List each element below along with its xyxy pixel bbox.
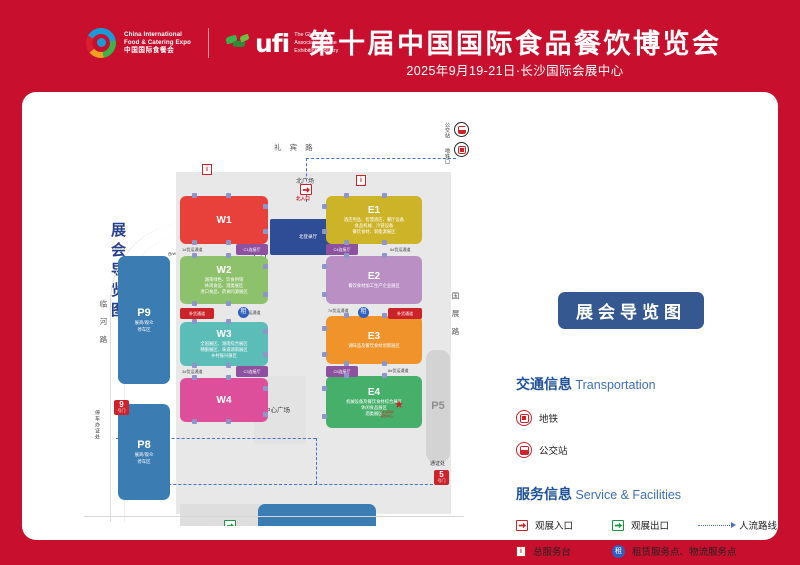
info-desk-marker-1[interactable] bbox=[202, 164, 212, 175]
parking-p9[interactable]: P9 展商/观众 停车区 bbox=[118, 256, 170, 384]
booth-dot bbox=[344, 373, 349, 378]
connector-c3[interactable]: C3连接厅 bbox=[236, 366, 268, 377]
restock-lane-1[interactable]: 补货通道 bbox=[180, 308, 214, 319]
hall-e1-desc: 酒店用品、智慧酒店、餐厅设备 食品机械、冷链设备 餐饮食材、新能源展区 bbox=[341, 217, 407, 236]
hall-w3[interactable]: W3 全国展区、湖南综合展区 精酿展区、味道湖南展区 乡村振兴展区 bbox=[180, 322, 268, 366]
booth-dot bbox=[382, 193, 387, 198]
service-en: Service & Facilities bbox=[572, 488, 681, 502]
hall-e2-desc: 餐饮食材加工生产企业展区 bbox=[345, 283, 403, 289]
booth-dot bbox=[192, 240, 197, 245]
legend-info-desk-label: 总服务台 bbox=[533, 544, 571, 558]
hall-w2[interactable]: W2 湖南绿色、饮食供销 休闲食品、酒类展区 进口食品、药食同源展区 bbox=[180, 256, 268, 304]
booth-dot bbox=[322, 326, 327, 331]
booth-dot bbox=[344, 313, 349, 318]
connector-c5[interactable]: C5连接厅 bbox=[326, 366, 358, 377]
booth-dot bbox=[382, 253, 387, 258]
booth-dot bbox=[226, 301, 231, 306]
booth-dot bbox=[192, 375, 197, 380]
flow-line-top bbox=[306, 158, 456, 159]
booth-dot bbox=[382, 240, 387, 245]
booth-dot bbox=[192, 319, 197, 324]
booth-dot bbox=[263, 386, 268, 391]
cicfe-logo-text: China International Food & Catering Expo… bbox=[124, 31, 191, 54]
parking-p8-desc: 展商/观众 停车区 bbox=[135, 452, 154, 465]
cicfe-logo-icon bbox=[86, 28, 116, 58]
info-panel: 展会导览图 交通信息 Transportation 地铁 公交站 服务信息 Se… bbox=[502, 106, 772, 526]
booth-dot bbox=[263, 264, 268, 269]
booth-dot bbox=[192, 301, 197, 306]
booth-dot bbox=[263, 329, 268, 334]
connector-c1[interactable]: C1连接厅 bbox=[236, 244, 268, 255]
booth-dot bbox=[192, 419, 197, 424]
rental-point-icon-1[interactable]: 租 bbox=[238, 307, 249, 318]
map-title-badge: 展会导览图 bbox=[558, 292, 704, 329]
rental-icon: 租 bbox=[612, 545, 625, 558]
hall-w3-id: W3 bbox=[217, 329, 232, 340]
parking-p8-id: P8 bbox=[137, 439, 150, 451]
hall-e1[interactable]: E1 酒店用品、智慧酒店、餐厅设备 食品机械、冷链设备 餐饮食材、新能源展区 bbox=[326, 196, 422, 244]
rental-point-icon-2[interactable]: 租 bbox=[358, 307, 369, 318]
booth-dot bbox=[263, 292, 268, 297]
parking-south-plaza[interactable]: 南广场 展商/观众 停车区 bbox=[258, 504, 376, 526]
page-header: China International Food & Catering Expo… bbox=[0, 0, 800, 90]
legend-bus-label: 公交站 bbox=[539, 443, 568, 457]
hall-e2[interactable]: E2 餐饮食材加工生产企业展区 bbox=[326, 256, 422, 304]
entrance-marker-top[interactable] bbox=[300, 184, 312, 195]
legend-entrance[interactable]: 观展入口 bbox=[516, 518, 573, 532]
logo-divider bbox=[208, 28, 209, 58]
flow-line-mid-vertical bbox=[316, 438, 317, 484]
gate-9[interactable]: 9 号门 bbox=[114, 400, 129, 415]
legend-flow-label: 人流路线 bbox=[739, 518, 777, 532]
cicfe-line-3: 中国国际食餐会 bbox=[124, 47, 191, 55]
parking-p9-desc: 展商/观众 停车区 bbox=[135, 320, 154, 333]
parking-p5[interactable]: P5 bbox=[426, 350, 450, 462]
info-desk-icon bbox=[516, 546, 526, 557]
section-title-service: 服务信息 Service & Facilities bbox=[516, 484, 681, 504]
section-title-transportation: 交通信息 Transportation bbox=[516, 374, 656, 394]
road-label-right: 国 展 路 bbox=[450, 292, 461, 339]
hall-e4[interactable]: E4 机械设备及餐饮食材综合展区 休闲食品展区 酒类展区 bbox=[326, 376, 422, 428]
vip-star-icon: ★ bbox=[394, 400, 404, 411]
road-label-top: 礼 宾 路 bbox=[274, 142, 316, 153]
hall-w3-desc: 全国展区、湖南综合展区 精酿展区、味道湖南展区 乡村振兴展区 bbox=[197, 341, 250, 360]
ufi-leaf-icon bbox=[226, 34, 250, 52]
booth-dot bbox=[192, 193, 197, 198]
booth-dot bbox=[263, 352, 268, 357]
page-title: 第十届中国国际食品餐饮博览会 bbox=[300, 22, 730, 61]
legend-rental-label: 租赁服务点、物流服务点 bbox=[632, 544, 737, 558]
transportation-en: Transportation bbox=[572, 378, 656, 392]
connector-c4[interactable]: C4连接厅 bbox=[326, 244, 358, 255]
metro-entrance-icon[interactable] bbox=[454, 142, 469, 157]
parking-p8[interactable]: P8 展商/观众 停车区 bbox=[118, 404, 170, 500]
booth-dot bbox=[226, 253, 231, 258]
parking-p5-id: P5 bbox=[431, 400, 444, 412]
booth-dot bbox=[192, 253, 197, 258]
road-label-left: 临 河 路 bbox=[98, 300, 109, 347]
booth-dot bbox=[344, 193, 349, 198]
hall-w4-id: W4 bbox=[217, 395, 232, 406]
transit-label-bus: 公交站 bbox=[444, 122, 451, 139]
booth-dot bbox=[226, 363, 231, 368]
metro-icon bbox=[516, 410, 532, 426]
hall-w4[interactable]: W4 bbox=[180, 378, 268, 422]
booth-dot bbox=[344, 240, 349, 245]
booth-dot bbox=[226, 419, 231, 424]
content-card: 展会导览图 北/N 南/S 东/E 西/W 礼 宾 路 临 河 路 国 展 路 … bbox=[22, 92, 778, 540]
cicfe-line-1: China International bbox=[124, 31, 191, 39]
bus-icon bbox=[516, 442, 532, 458]
transit-label-metro: 地铁口 bbox=[444, 148, 451, 165]
transportation-zh: 交通信息 bbox=[516, 376, 572, 392]
booth-dot bbox=[226, 240, 231, 245]
info-desk-marker-2[interactable] bbox=[356, 175, 366, 186]
booth-dot bbox=[382, 361, 387, 366]
gate-5-label: 号门 bbox=[434, 479, 449, 484]
parking-p9-id: P9 bbox=[137, 307, 150, 319]
booth-dot bbox=[322, 264, 327, 269]
booth-dot bbox=[263, 229, 268, 234]
legend-exit-label: 观展出口 bbox=[631, 518, 669, 532]
legend-metro-label: 地铁 bbox=[539, 411, 558, 425]
booth-dot bbox=[263, 412, 268, 417]
hall-w1[interactable]: W1 bbox=[180, 196, 268, 244]
legend-entrance-label: 观展入口 bbox=[535, 518, 573, 532]
restock-lane-2[interactable]: 补货通道 bbox=[388, 308, 422, 319]
legend-info-desk[interactable]: 总服务台 bbox=[516, 544, 571, 558]
legend-metro[interactable]: 地铁 bbox=[516, 410, 558, 426]
north-hall-label: 北登录厅 bbox=[299, 234, 317, 240]
corridor-label-8: 8#货运通道 bbox=[388, 368, 408, 374]
flow-route-icon bbox=[698, 525, 732, 526]
footer-divider bbox=[84, 516, 464, 517]
booth-dot bbox=[322, 386, 327, 391]
legend-exit[interactable]: 观展出口 bbox=[612, 518, 669, 532]
booth-dot bbox=[226, 319, 231, 324]
hall-e1-id: E1 bbox=[368, 205, 380, 216]
page-subtitle: 2025年9月19-21日·长沙国际会展中心 bbox=[300, 60, 730, 79]
cicfe-line-2: Food & Catering Expo bbox=[124, 39, 191, 47]
booth-dot bbox=[226, 375, 231, 380]
booth-dot bbox=[322, 352, 327, 357]
service-zh: 服务信息 bbox=[516, 486, 572, 502]
hall-w2-desc: 湖南绿色、饮食供销 休闲食品、酒类展区 进口食品、药食同源展区 bbox=[197, 277, 250, 296]
booth-dot bbox=[322, 292, 327, 297]
booth-dot bbox=[263, 204, 268, 209]
exit-icon bbox=[612, 520, 624, 531]
north-plaza-label: 北广场 bbox=[296, 176, 314, 185]
booth-dot bbox=[382, 373, 387, 378]
booth-dot bbox=[322, 414, 327, 419]
hall-w2-id: W2 bbox=[217, 265, 232, 276]
bus-station-icon[interactable] bbox=[454, 122, 469, 137]
entrance-icon bbox=[516, 520, 528, 531]
hall-e2-id: E2 bbox=[368, 271, 380, 282]
booth-dot bbox=[344, 253, 349, 258]
booth-dot bbox=[322, 229, 327, 234]
hall-w1-id: W1 bbox=[217, 215, 232, 226]
booth-dot bbox=[344, 361, 349, 366]
north-entry-label: 北入口 bbox=[296, 196, 310, 202]
legend-flow-route[interactable]: 人流路线 bbox=[698, 518, 777, 532]
exit-icon-map-4[interactable] bbox=[224, 520, 236, 526]
booth-dot bbox=[322, 204, 327, 209]
booth-dot bbox=[226, 193, 231, 198]
gate-9-note: 停车办证处 bbox=[94, 410, 101, 440]
venue-map[interactable]: 展会导览图 北/N 南/S 东/E 西/W 礼 宾 路 临 河 路 国 展 路 … bbox=[58, 104, 488, 526]
hall-e4-id: E4 bbox=[368, 387, 380, 398]
legend-rental[interactable]: 租 租赁服务点、物流服务点 bbox=[612, 544, 737, 558]
gate-5[interactable]: 5 号门 bbox=[434, 470, 449, 485]
hall-e3[interactable]: E3 调味品及餐饮食材创新展区 bbox=[326, 316, 422, 364]
hall-e3-desc: 调味品及餐饮食材创新展区 bbox=[345, 343, 403, 349]
corridor-label-6: 6#货运通道 bbox=[390, 247, 410, 253]
gate-9-label: 号门 bbox=[114, 409, 129, 414]
hall-e3-id: E3 bbox=[368, 331, 380, 342]
booth-dot bbox=[382, 313, 387, 318]
booth-dot bbox=[192, 363, 197, 368]
ufi-wordmark: ufi bbox=[255, 31, 289, 56]
gate-5-note: 通证处 bbox=[430, 460, 445, 467]
road-strip-top bbox=[176, 162, 451, 172]
legend-bus[interactable]: 公交站 bbox=[516, 442, 568, 458]
vip-center-label: VIP采购商 服务中心 bbox=[380, 410, 394, 418]
